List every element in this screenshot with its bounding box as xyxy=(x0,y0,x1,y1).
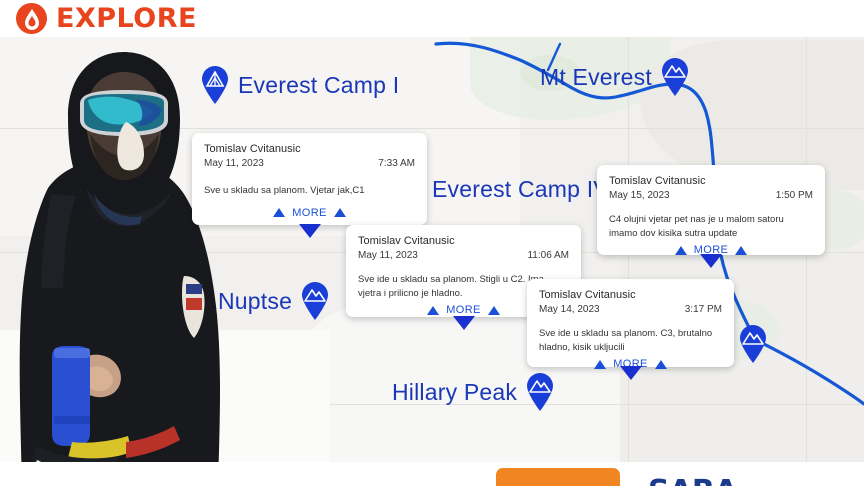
map-place-everest-camp-iv[interactable]: Everest Camp IV xyxy=(432,176,609,203)
map-place-label: Everest Camp I xyxy=(238,72,399,99)
map-place-nuptse[interactable]: Nuptse xyxy=(218,282,330,321)
map-update-card[interactable]: Tomislav Cvitanusic May 14, 2023 3:17 PM… xyxy=(527,279,734,367)
map-place-label: Nuptse xyxy=(218,288,292,315)
map-place-label: Everest Camp IV xyxy=(432,176,609,203)
card-message: C4 olujni vjetar pet nas je u malom sato… xyxy=(609,213,813,241)
card-header-row: Tomislav Cvitanusic xyxy=(358,234,569,249)
card-more-label: MORE xyxy=(446,304,481,316)
map-update-card[interactable]: Tomislav Cvitanusic May 15, 2023 1:50 PM… xyxy=(597,165,825,255)
map-place-everest-camp-i[interactable]: Everest Camp I xyxy=(200,66,399,105)
brand-logo[interactable]: EXPLORE xyxy=(16,3,197,34)
card-header-row: Tomislav Cvitanusic xyxy=(539,288,722,303)
triangle-up-icon xyxy=(334,208,346,217)
triangle-up-icon xyxy=(655,360,667,369)
card-author: Tomislav Cvitanusic xyxy=(358,234,455,249)
card-author: Tomislav Cvitanusic xyxy=(204,142,301,157)
card-time: 11:06 AM xyxy=(527,249,569,263)
mountain-pin-icon[interactable] xyxy=(300,282,330,321)
card-meta-row: May 11, 2023 11:06 AM xyxy=(358,249,569,263)
card-meta-row: May 14, 2023 3:17 PM xyxy=(539,303,722,317)
card-more-button[interactable]: MORE xyxy=(204,207,415,219)
card-pointer-icon xyxy=(700,254,722,268)
footer-brand-text: SARA xyxy=(648,474,737,486)
card-header-row: Tomislav Cvitanusic xyxy=(609,174,813,189)
card-date: May 11, 2023 xyxy=(358,249,418,263)
triangle-up-icon xyxy=(735,246,747,255)
card-date: May 11, 2023 xyxy=(204,157,264,171)
map-place-label: Mt Everest xyxy=(540,64,652,91)
card-time: 3:17 PM xyxy=(685,303,722,317)
triangle-up-icon xyxy=(594,360,606,369)
card-message: Sve u skladu sa planom. Vjetar jak,C1 xyxy=(204,184,415,198)
card-author: Tomislav Cvitanusic xyxy=(539,288,636,303)
map-update-card[interactable]: Tomislav Cvitanusic May 11, 2023 7:33 AM… xyxy=(192,133,427,225)
mountain-pin-icon[interactable] xyxy=(738,325,768,364)
map-place-mt-everest[interactable]: Mt Everest xyxy=(540,58,690,97)
map-place-label: Hillary Peak xyxy=(392,379,517,406)
map-place-hillary-peak[interactable]: Hillary Peak xyxy=(392,373,555,412)
card-more-label: MORE xyxy=(292,207,327,219)
card-message: Sve ide u skladu sa planom. C3, brutalno… xyxy=(539,327,722,355)
footer-bar: SARA xyxy=(0,462,864,486)
screenshot-root: EXPLORE xyxy=(0,0,864,486)
triangle-up-icon xyxy=(427,306,439,315)
climber-photo xyxy=(8,38,238,486)
triangle-up-icon xyxy=(273,208,285,217)
footer-brand-partial: SARA xyxy=(648,474,737,486)
card-date: May 14, 2023 xyxy=(539,303,600,317)
mountain-flame-circle-icon xyxy=(16,3,47,34)
app-header: EXPLORE xyxy=(0,0,864,37)
card-pointer-icon xyxy=(299,224,321,238)
card-pointer-icon xyxy=(620,366,642,380)
card-date: May 15, 2023 xyxy=(609,189,670,203)
card-meta-row: May 11, 2023 7:33 AM xyxy=(204,157,415,171)
card-header-row: Tomislav Cvitanusic xyxy=(204,142,415,157)
card-meta-row: May 15, 2023 1:50 PM xyxy=(609,189,813,203)
card-time: 7:33 AM xyxy=(378,157,415,171)
mountain-pin-icon[interactable] xyxy=(525,373,555,412)
brand-wordmark: EXPLORE xyxy=(56,5,197,32)
card-pointer-icon xyxy=(453,316,475,330)
card-author: Tomislav Cvitanusic xyxy=(609,174,706,189)
footer-cta-button[interactable] xyxy=(496,468,620,486)
tent-pin-icon[interactable] xyxy=(200,66,230,105)
triangle-up-icon xyxy=(488,306,500,315)
card-time: 1:50 PM xyxy=(776,189,813,203)
mountain-pin-icon[interactable] xyxy=(660,58,690,97)
triangle-up-icon xyxy=(675,246,687,255)
